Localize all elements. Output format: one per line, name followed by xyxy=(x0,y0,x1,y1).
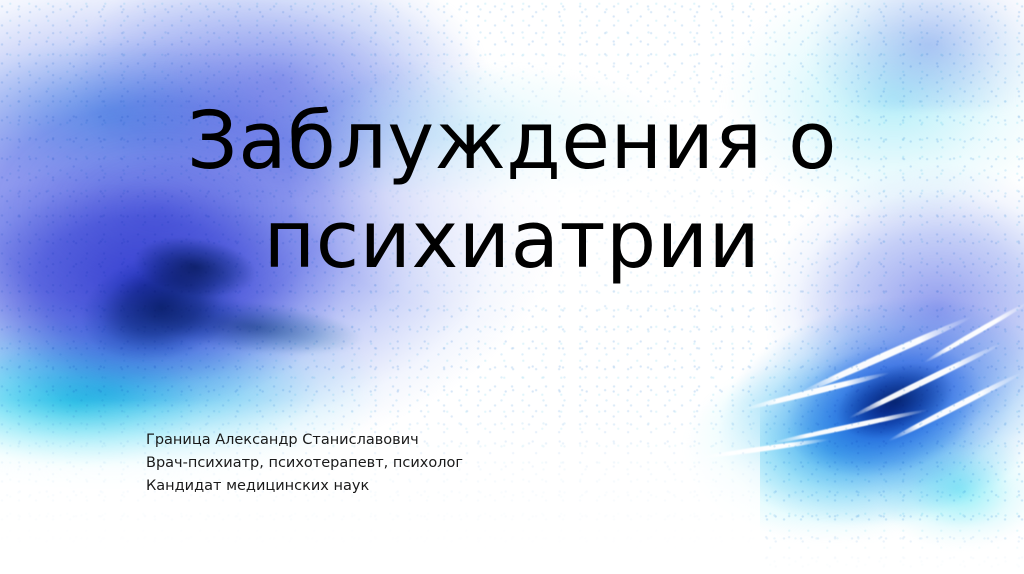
slide-content: Заблуждения о психиатрии Граница Алексан… xyxy=(0,0,1024,574)
slide-title: Заблуждения о психиатрии xyxy=(0,92,1024,290)
subtitle-author: Граница Александр Станиславович xyxy=(146,429,463,452)
subtitle-profession: Врач-психиатр, психотерапевт, психолог xyxy=(146,452,463,475)
title-line-1: Заблуждения о xyxy=(0,92,1024,191)
title-line-2: психиатрии xyxy=(0,191,1024,290)
subtitle-degree: Кандидат медицинских наук xyxy=(146,475,463,498)
slide-subtitle: Граница Александр Станиславович Врач-пси… xyxy=(146,429,463,498)
title-slide: Заблуждения о психиатрии Граница Алексан… xyxy=(0,0,1024,574)
